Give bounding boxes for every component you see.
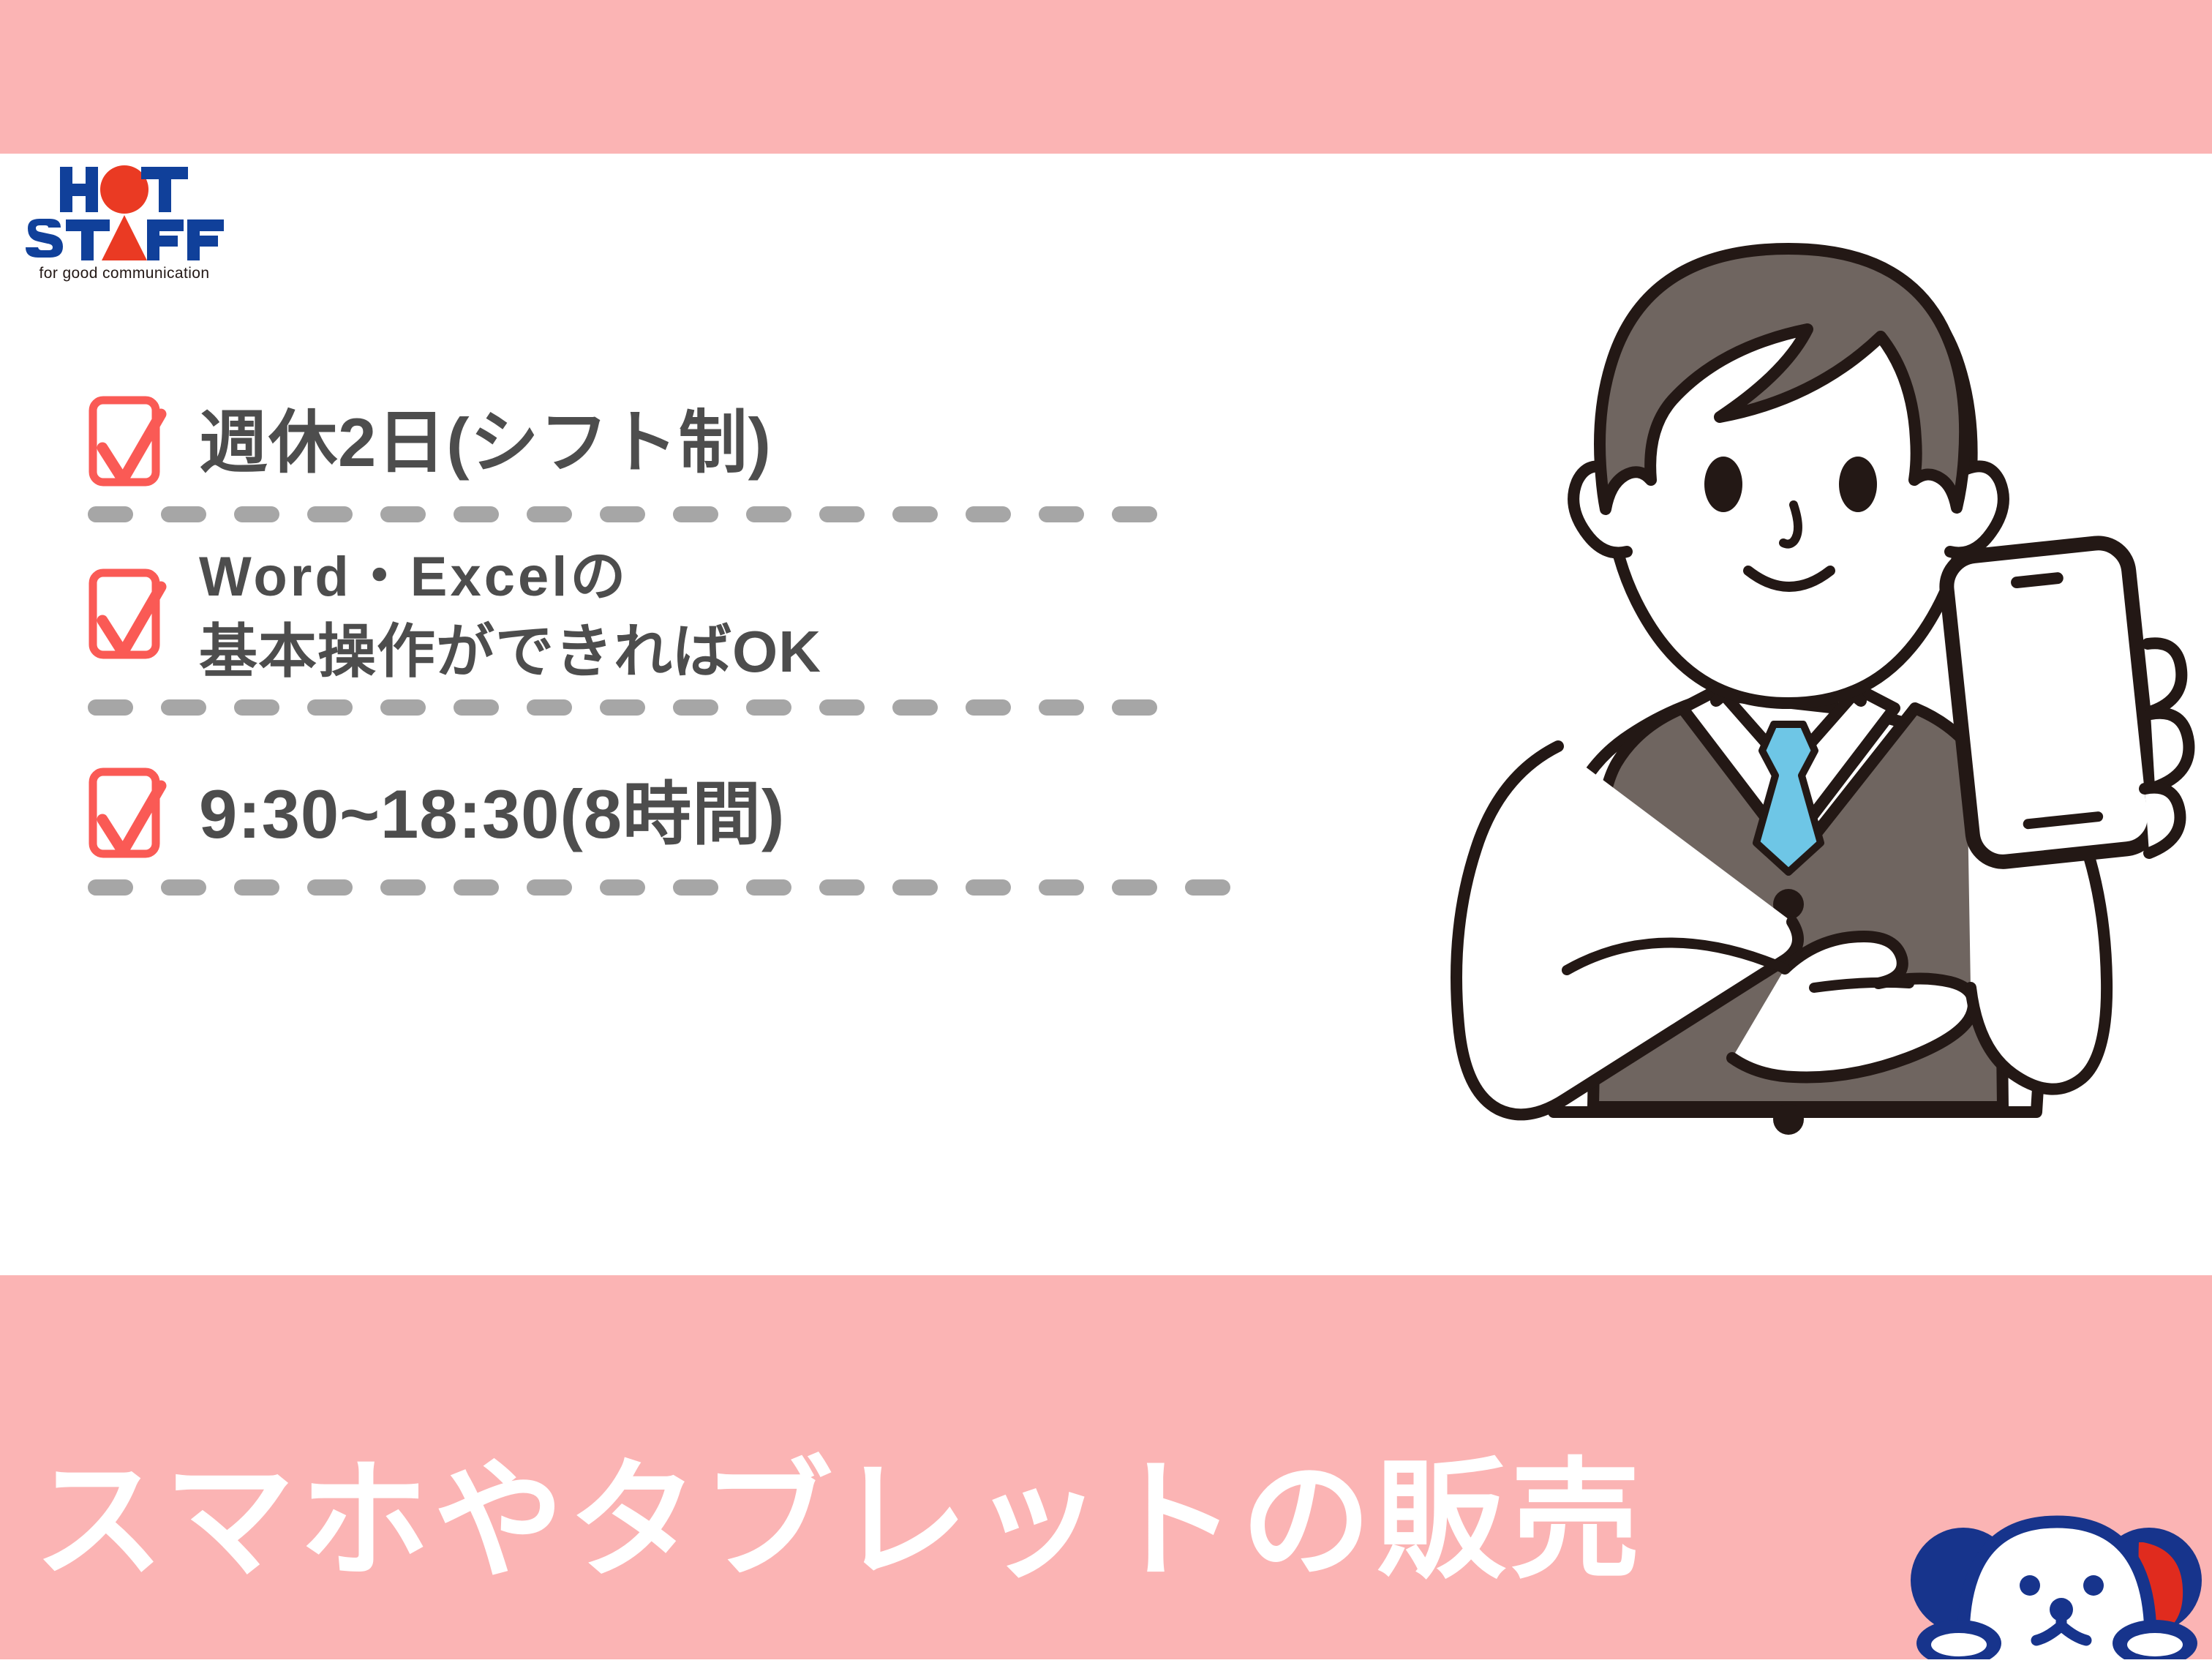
hot-staff-logo — [22, 162, 227, 279]
divider-dashed-1 — [88, 506, 1390, 522]
checklist-item-hours: 9:30~18:30(8時間) — [88, 767, 1390, 862]
checkbox-checked-icon — [88, 568, 168, 663]
checklist-item-holiday: 週休2日(シフト制) — [88, 395, 1390, 490]
checklist-item-holiday-label: 週休2日(シフト制) — [199, 402, 772, 484]
checklist-item-hours-label: 9:30~18:30(8時間) — [199, 774, 785, 855]
top-banner — [0, 0, 2212, 154]
logo-mark-icon — [22, 162, 227, 265]
logo-tagline: for good communication — [22, 265, 227, 282]
checkbox-checked-icon — [88, 395, 168, 490]
checklist-item-skills-line1: Word・Excelの — [199, 544, 821, 610]
businessman-illustration — [1375, 139, 2202, 1280]
checklist: 週休2日(シフト制) Word・Excelの 基本操作ができればOK — [88, 395, 1390, 896]
checkbox-checked-icon — [88, 767, 168, 862]
checklist-item-skills-line2: 基本操作ができればOK — [199, 617, 821, 686]
divider-dashed-2 — [88, 699, 1390, 716]
checklist-item-skills: Word・Excelの 基本操作ができればOK — [88, 544, 1390, 686]
divider-dashed-3 — [88, 879, 1390, 896]
dog-mascot-illustration — [1902, 1500, 2212, 1659]
headline-text: スマホやタブレットの販売 — [34, 1416, 1862, 1604]
